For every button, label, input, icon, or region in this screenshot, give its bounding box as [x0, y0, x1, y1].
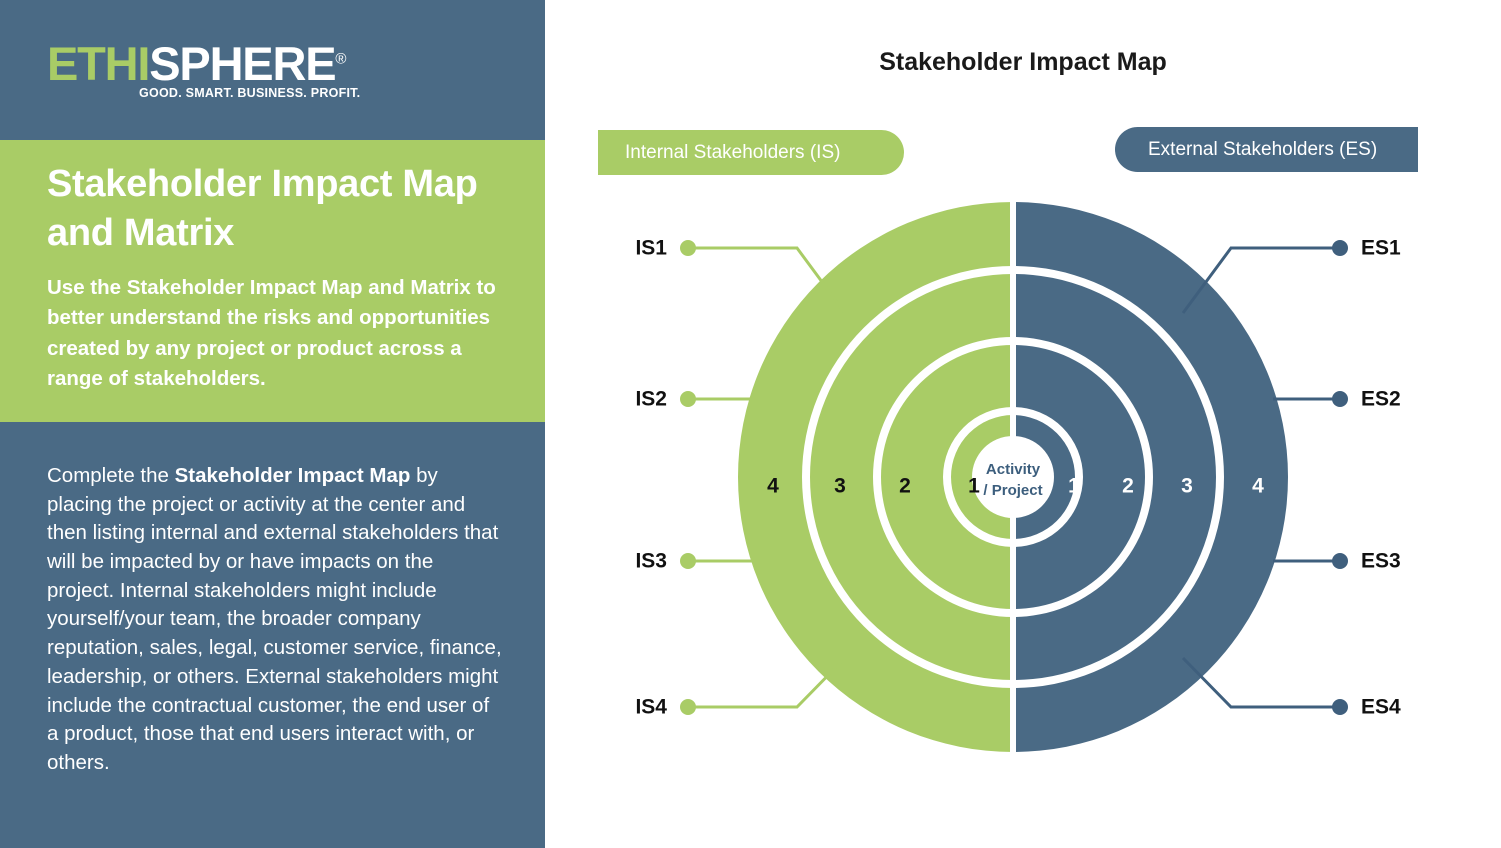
ring-number-is-4: 4 [767, 475, 779, 498]
instructions-text: Complete the Stakeholder Impact Map by p… [47, 462, 502, 778]
ring-number-es-1: 1 [1068, 475, 1080, 498]
logo-text-ethi: ETHI [47, 37, 149, 90]
diagram-panel: Stakeholder Impact Map Internal Stakehol… [545, 0, 1501, 848]
label-es2[interactable]: ES2 [1361, 388, 1401, 411]
label-es1[interactable]: ES1 [1361, 237, 1401, 260]
label-es4[interactable]: ES4 [1361, 696, 1401, 719]
label-is3[interactable]: IS3 [635, 550, 667, 573]
registered-trademark-icon: ® [335, 50, 345, 67]
ring-number-is-1: 1 [968, 475, 980, 498]
instructions-prefix: Complete the [47, 464, 175, 487]
sidebar-highlight-panel: Stakeholder Impact Map and Matrix Use th… [0, 140, 545, 422]
center-label-line1: Activity [986, 461, 1041, 478]
slide-canvas: ETHISPHERE® GOOD. SMART. BUSINESS. PROFI… [0, 0, 1501, 848]
connector-dot-is3[interactable] [680, 553, 696, 569]
center-label-line2: / Project [983, 482, 1042, 499]
ethisphere-logo: ETHISPHERE® [47, 40, 345, 87]
brand-tagline: GOOD. SMART. BUSINESS. PROFIT. [139, 86, 360, 100]
label-is1[interactable]: IS1 [635, 237, 667, 260]
brand-header: ETHISPHERE® GOOD. SMART. BUSINESS. PROFI… [0, 0, 545, 140]
external-ring-group [1013, 202, 1288, 752]
page-subtitle: Use the Stakeholder Impact Map and Matri… [47, 273, 517, 394]
instructions-rest: by placing the project or activity at th… [47, 464, 502, 774]
connector-dot-es2[interactable] [1332, 391, 1348, 407]
connector-dot-es1[interactable] [1332, 240, 1348, 256]
impact-map-svg: IS1 IS2 IS3 IS4 ES1 ES2 ES3 ES4 1 2 3 4 … [545, 0, 1501, 848]
connector-dot-is1[interactable] [680, 240, 696, 256]
ring-number-es-3: 3 [1181, 475, 1193, 498]
connector-dot-es3[interactable] [1332, 553, 1348, 569]
connector-dot-es4[interactable] [1332, 699, 1348, 715]
label-is4[interactable]: IS4 [635, 696, 667, 719]
ring-number-is-2: 2 [899, 475, 911, 498]
ring-number-es-2: 2 [1122, 475, 1134, 498]
logo-text-sphere: SPHERE [149, 37, 335, 90]
label-is2[interactable]: IS2 [635, 388, 667, 411]
ring-number-is-3: 3 [834, 475, 846, 498]
sidebar: ETHISPHERE® GOOD. SMART. BUSINESS. PROFI… [0, 0, 545, 848]
connector-dot-is2[interactable] [680, 391, 696, 407]
ring-number-es-4: 4 [1252, 475, 1264, 498]
page-title: Stakeholder Impact Map and Matrix [47, 160, 497, 257]
instructions-emphasis: Stakeholder Impact Map [175, 464, 411, 487]
sidebar-instructions-panel: Complete the Stakeholder Impact Map by p… [0, 422, 545, 848]
connector-dot-is4[interactable] [680, 699, 696, 715]
label-es3[interactable]: ES3 [1361, 550, 1401, 573]
